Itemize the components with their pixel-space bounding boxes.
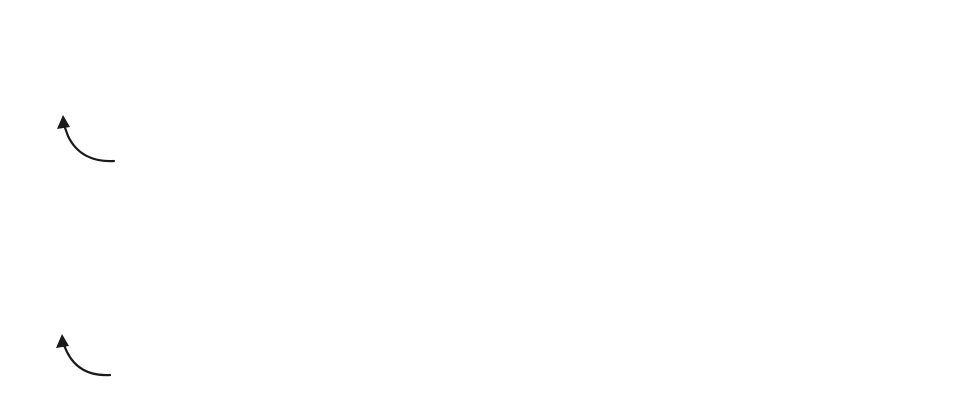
curved-arrow-icon-not-restored <box>50 332 112 378</box>
filmstrip-not-restored[interactable] <box>14 271 836 331</box>
curved-arrow-icon-restored <box>50 112 116 164</box>
filmstrip-restored[interactable] <box>13 50 111 107</box>
